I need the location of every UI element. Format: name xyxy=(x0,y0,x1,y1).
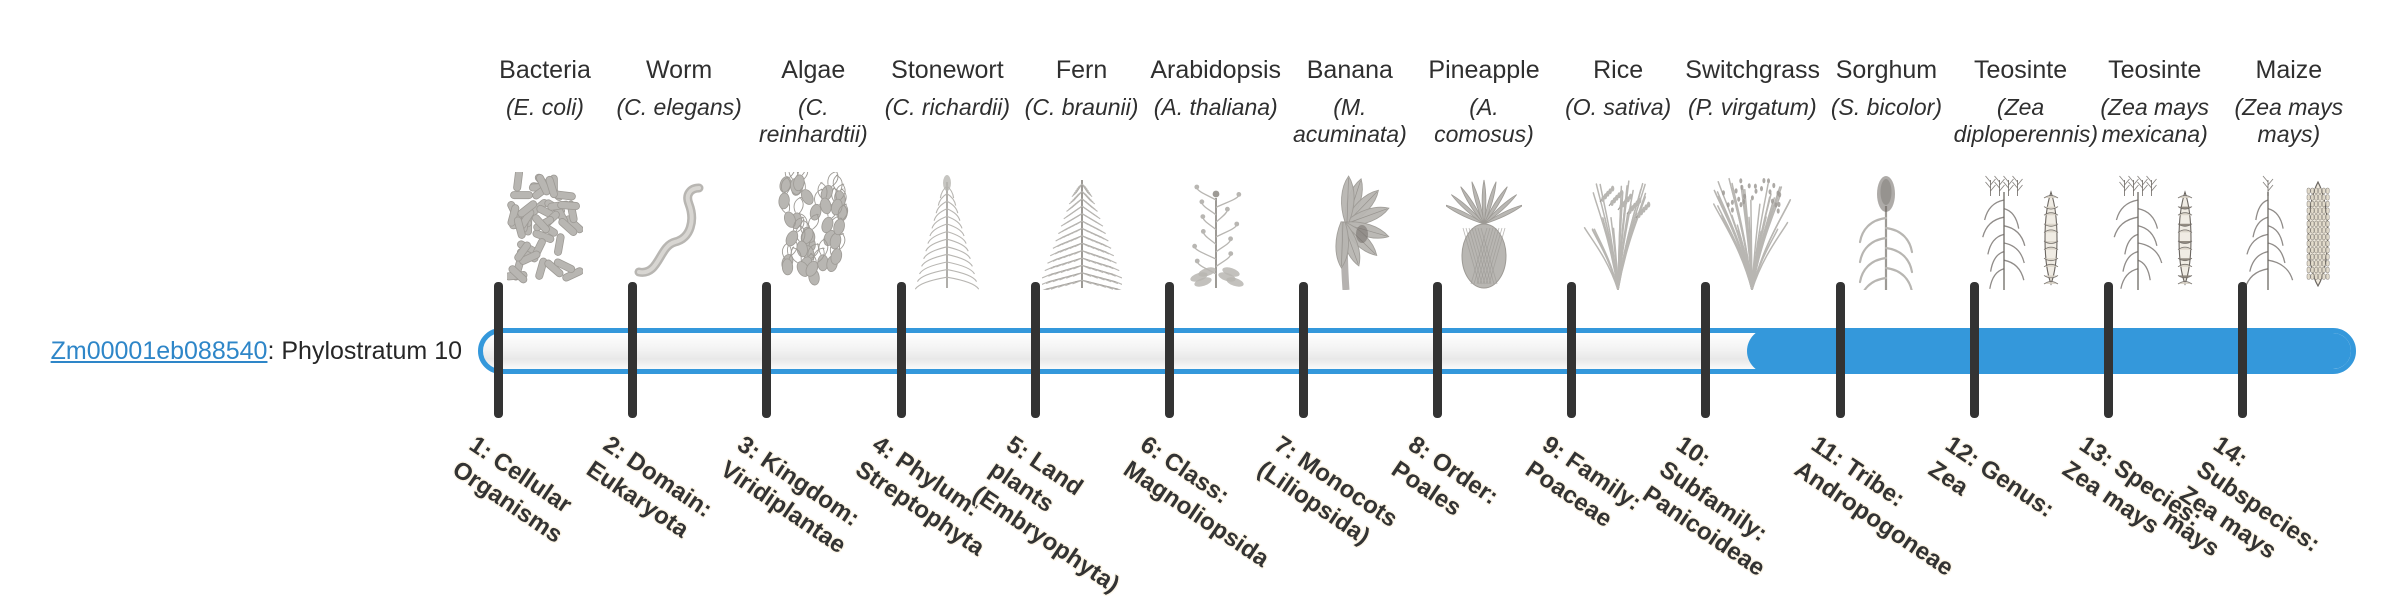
species-column-maize-13: Maize(Zea mays mays) xyxy=(2222,55,2356,148)
species-column-teosinte-12: Teosinte(Zea mays mexicana) xyxy=(2088,55,2222,148)
bacteria-illustration-icon xyxy=(478,168,612,290)
maize-illustration-icon xyxy=(2222,168,2356,290)
stonewort-illustration-icon xyxy=(880,168,1014,290)
species-column-switchgrass-9: Switchgrass(P. virgatum) xyxy=(1685,55,1819,121)
gene-label: Zm00001eb088540: Phylostratum 10 xyxy=(0,336,462,366)
taxonomy-label-5: 5: Land plants (Embryophyta) xyxy=(966,430,1141,588)
teosinte-mexicana-illustration-icon xyxy=(2088,168,2222,290)
species-scientific-name: (A. thaliana) xyxy=(1149,94,1283,121)
arabidopsis-illustration-icon xyxy=(1149,168,1283,290)
species-scientific-name: (Zea mays mays) xyxy=(2222,94,2356,148)
phylostratum-bar[interactable] xyxy=(478,328,2356,374)
species-scientific-name: (P. virgatum) xyxy=(1685,94,1819,121)
organism-illustration-row xyxy=(478,168,2356,290)
species-common-name: Arabidopsis xyxy=(1149,55,1283,85)
fern-illustration-icon xyxy=(1015,168,1149,290)
species-common-name: Bacteria xyxy=(478,55,612,85)
green-algae-illustration-icon xyxy=(746,168,880,290)
species-common-name: Maize xyxy=(2222,55,2356,85)
species-scientific-name: (C. richardii) xyxy=(880,94,1014,121)
teosinte-diploperennis-illustration-icon xyxy=(1954,168,2088,290)
sorghum-illustration-icon xyxy=(1819,168,1953,290)
species-common-name: Stonewort xyxy=(880,55,1014,85)
banana-plant-illustration-icon xyxy=(1283,168,1417,290)
species-common-name: Worm xyxy=(612,55,746,85)
phylostratum-tick-8[interactable] xyxy=(1433,282,1442,418)
species-column-algae-2: Algae(C. reinhardtii) xyxy=(746,55,880,148)
species-common-name: Rice xyxy=(1551,55,1685,85)
species-column-teosinte-11: Teosinte(Zea diploperennis) xyxy=(1954,55,2088,148)
phylostratum-tick-6[interactable] xyxy=(1165,282,1174,418)
rice-plant-illustration-icon xyxy=(1551,168,1685,290)
species-column-rice-8: Rice(O. sativa) xyxy=(1551,55,1685,121)
phylostratum-tick-1[interactable] xyxy=(494,282,503,418)
phylostratum-tick-10[interactable] xyxy=(1701,282,1710,418)
gene-id-link[interactable]: Zm00001eb088540 xyxy=(51,337,268,365)
gene-phylostratum-text: : Phylostratum 10 xyxy=(267,337,462,365)
species-header-row: Bacteria(E. coli)Worm(C. elegans)Algae(C… xyxy=(478,55,2356,165)
phylostratum-tick-4[interactable] xyxy=(897,282,906,418)
phylostratum-tick-5[interactable] xyxy=(1031,282,1040,418)
species-scientific-name: (C. elegans) xyxy=(612,94,746,121)
species-scientific-name: (O. sativa) xyxy=(1551,94,1685,121)
taxonomy-rank: Genus: xyxy=(1975,454,2059,523)
species-common-name: Algae xyxy=(746,55,880,85)
phylostratum-tick-13[interactable] xyxy=(2104,282,2113,418)
nematode-worm-illustration-icon xyxy=(612,168,746,290)
phylostratum-tick-9[interactable] xyxy=(1567,282,1576,418)
phylostratum-tick-11[interactable] xyxy=(1836,282,1845,418)
taxonomy-label-6: 6: Class: Magnoliopsida xyxy=(1117,430,1275,564)
taxonomy-label-12: 12: Genus: Zea xyxy=(1922,430,2080,564)
species-scientific-name: (E. coli) xyxy=(478,94,612,121)
species-scientific-name: (A. comosus) xyxy=(1417,94,1551,148)
species-common-name: Fern xyxy=(1015,55,1149,85)
species-scientific-name: (C. reinhardtii) xyxy=(746,94,880,148)
pineapple-illustration-icon xyxy=(1417,168,1551,290)
phylostratigraphy-chart: Bacteria(E. coli)Worm(C. elegans)Algae(C… xyxy=(0,0,2400,580)
species-column-sorghum-10: Sorghum(S. bicolor) xyxy=(1819,55,1953,121)
phylostratum-tick-7[interactable] xyxy=(1299,282,1308,418)
phylostratum-tick-3[interactable] xyxy=(762,282,771,418)
species-scientific-name: (Zea mays mexicana) xyxy=(2088,94,2222,148)
phylostratum-tick-12[interactable] xyxy=(1970,282,1979,418)
taxonomy-label-10: 10: Subfamily: Panicoideae xyxy=(1637,430,1812,588)
species-column-arabidopsis-5: Arabidopsis(A. thaliana) xyxy=(1149,55,1283,121)
phylostratum-tick-2[interactable] xyxy=(628,282,637,418)
species-column-worm-1: Worm(C. elegans) xyxy=(612,55,746,121)
switchgrass-illustration-icon xyxy=(1685,168,1819,290)
species-common-name: Pineapple xyxy=(1417,55,1551,85)
taxonomy-label-1: 1: Cellular Organisms xyxy=(447,430,605,564)
species-common-name: Teosinte xyxy=(1954,55,2088,85)
species-scientific-name: (S. bicolor) xyxy=(1819,94,1953,121)
species-common-name: Sorghum xyxy=(1819,55,1953,85)
taxonomy-label-11: 11: Tribe: Andropogoneae xyxy=(1788,430,1946,564)
phylostratum-tick-14[interactable] xyxy=(2238,282,2247,418)
species-scientific-name: (M. acuminata) xyxy=(1283,94,1417,148)
species-column-pineapple-7: Pineapple(A. comosus) xyxy=(1417,55,1551,148)
species-common-name: Banana xyxy=(1283,55,1417,85)
species-column-banana-6: Banana(M. acuminata) xyxy=(1283,55,1417,148)
taxonomy-label-3: 3: Kingdom: Viridiplantae xyxy=(715,430,873,564)
taxonomy-label-8: 8: Order: Poales xyxy=(1386,430,1544,564)
species-common-name: Teosinte xyxy=(2088,55,2222,85)
species-common-name: Switchgrass xyxy=(1685,55,1819,85)
species-column-fern-4: Fern(C. braunii) xyxy=(1015,55,1149,121)
taxonomy-label-7: 7: Monocots (Liliopsida) xyxy=(1251,430,1409,564)
species-column-stonewort-3: Stonewort(C. richardii) xyxy=(880,55,1014,121)
species-scientific-name: (C. braunii) xyxy=(1015,94,1149,121)
species-scientific-name: (Zea diploperennis) xyxy=(1954,94,2088,148)
species-column-bacteria-0: Bacteria(E. coli) xyxy=(478,55,612,121)
phylostratum-bar-track xyxy=(478,328,2356,374)
taxonomy-label-2: 2: Domain: Eukaryota xyxy=(581,430,739,564)
taxonomy-label-14: 14: Subspecies: Zea mays mays xyxy=(2157,430,2348,613)
